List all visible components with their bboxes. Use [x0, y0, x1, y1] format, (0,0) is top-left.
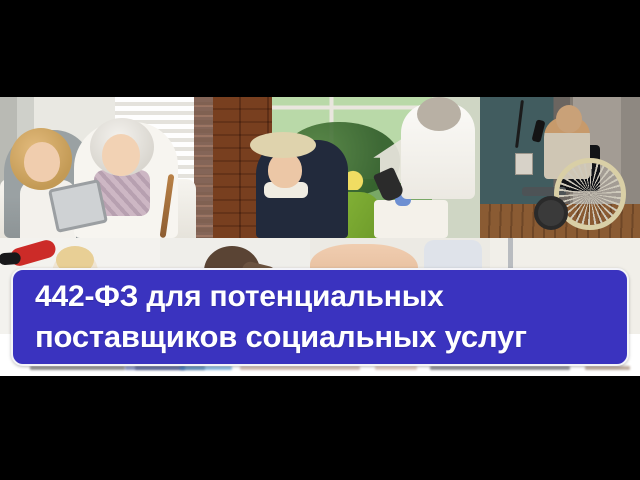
carer-figure: [401, 103, 475, 199]
elderly-man-head: [556, 105, 582, 133]
caregiver-face: [24, 142, 60, 182]
photo-caregiver-and-elderly-woman-with-tablet: [0, 97, 213, 238]
collage-row-1: [0, 97, 640, 238]
red-wheelchair-handle: [8, 238, 57, 268]
letterbox-top: [0, 0, 640, 97]
side-table: [374, 200, 448, 238]
strip-fragment: [430, 366, 570, 370]
wheelchair-small-wheel: [534, 196, 568, 230]
elderly-woman-face: [102, 134, 140, 176]
strip-fragment: [180, 366, 232, 370]
strip-fragment: [30, 366, 125, 370]
carer-hair: [417, 97, 461, 131]
title-line-1: 442-ФЗ для потенциальных: [35, 277, 605, 317]
wall-panel: [515, 153, 533, 175]
title-line-2: поставщиков социальных услуг: [35, 317, 605, 357]
strip-fragment: [585, 366, 630, 370]
brick-edge: [194, 97, 213, 238]
sun-hat: [250, 132, 316, 158]
strip-fragment: [375, 366, 417, 370]
strip-fragment: [240, 366, 360, 370]
strip-fragment: [125, 366, 185, 370]
video-frame: 442-ФЗ для потенциальных поставщиков соц…: [0, 0, 640, 480]
photo-elderly-man-in-wheelchair-on-phone: [480, 97, 640, 238]
photo-elderly-woman-in-hat-by-window: [213, 97, 480, 238]
elderly-woman-in-hat: [256, 140, 348, 238]
letterbox-bottom: [0, 376, 640, 480]
title-banner: 442-ФЗ для потенциальных поставщиков соц…: [11, 268, 629, 366]
